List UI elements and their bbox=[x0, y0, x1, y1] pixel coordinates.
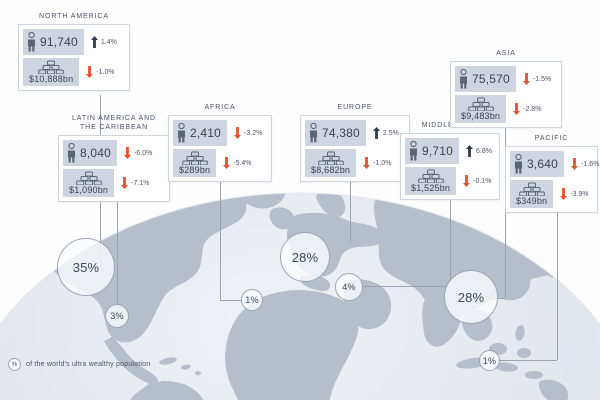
wealth-row-asia: $9,483bn -2.8% bbox=[455, 95, 557, 123]
person-icon bbox=[308, 123, 319, 143]
card-body-latin-america: 8,040 -6.0% bbox=[58, 135, 170, 202]
wealth-row-middle-east: $1,525bn -0.1% bbox=[405, 167, 495, 195]
share-bubble-north-america: 35% bbox=[57, 238, 115, 296]
population-value-africa: 2,410 bbox=[190, 126, 221, 140]
wealth-delta-africa: -5.4% bbox=[216, 149, 267, 177]
wealth-chip-middle-east: $1,525bn bbox=[405, 167, 456, 195]
arrow-down-icon bbox=[121, 177, 128, 189]
wealth-value-africa: $289bn bbox=[179, 165, 210, 175]
population-delta-text-middle-east: 6.8% bbox=[476, 148, 492, 155]
gold-bars-icon bbox=[418, 169, 444, 183]
region-title-europe: EUROPE bbox=[300, 103, 410, 112]
population-chip-asia: 75,570 bbox=[455, 66, 516, 92]
population-delta-asia: -1.5% bbox=[516, 66, 557, 92]
population-chip-pacific: 3,640 bbox=[510, 151, 564, 177]
share-value-pacific: 1% bbox=[483, 356, 496, 366]
wealth-chip-north-america: $10,888bn bbox=[23, 58, 79, 86]
arrow-up-icon bbox=[91, 36, 98, 48]
share-value-europe: 28% bbox=[292, 250, 319, 265]
share-value-africa: 1% bbox=[245, 295, 258, 305]
share-value-north-america: 35% bbox=[73, 260, 100, 275]
population-delta-text-europe: 2.5% bbox=[383, 130, 399, 137]
legend-bubble-icon: % bbox=[8, 358, 21, 371]
population-delta-africa: -3.2% bbox=[227, 120, 267, 146]
region-card-pacific[interactable]: PACIFIC 3,640 -1.6% bbox=[505, 134, 598, 213]
population-row-latin-america: 8,040 -6.0% bbox=[63, 140, 165, 166]
arrow-down-icon bbox=[571, 158, 578, 170]
population-value-middle-east: 9,710 bbox=[422, 144, 453, 158]
region-card-middle-east[interactable]: MIDDLE EAST 9,710 6.8% bbox=[400, 121, 500, 200]
population-delta-pacific: -1.6% bbox=[564, 151, 599, 177]
wealth-delta-text-north-america: -1.0% bbox=[96, 69, 114, 76]
arrow-up-icon bbox=[466, 145, 473, 157]
share-value-latin-america: 3% bbox=[110, 311, 123, 321]
population-delta-text-north-america: 1.4% bbox=[101, 39, 117, 46]
connector-africa-vertical bbox=[220, 180, 221, 300]
wealth-row-africa: $289bn -5.4% bbox=[173, 149, 267, 177]
population-delta-text-latin-america: -6.0% bbox=[134, 150, 152, 157]
region-card-latin-america[interactable]: LATIN AMERICA AND THE CARIBBEAN 8,040 -6… bbox=[58, 114, 170, 202]
card-body-north-america: 91,740 1.4% bbox=[18, 24, 130, 91]
population-value-europe: 74,380 bbox=[322, 126, 360, 140]
wealth-delta-latin-america: -7.1% bbox=[114, 169, 165, 197]
arrow-down-icon bbox=[124, 147, 131, 159]
population-row-asia: 75,570 -1.5% bbox=[455, 66, 557, 92]
legend-bubble-symbol: % bbox=[12, 362, 17, 368]
wealth-value-north-america: $10,888bn bbox=[29, 74, 73, 84]
population-row-north-america: 91,740 1.4% bbox=[23, 29, 125, 55]
region-title-latin-america: LATIN AMERICA AND THE CARIBBEAN bbox=[58, 114, 170, 132]
arrow-down-icon bbox=[86, 66, 93, 78]
wealth-delta-text-latin-america: -7.1% bbox=[131, 180, 149, 187]
infographic-root: 35% 3% 1% 28% 4% 28% 1% NORTH AMERICA bbox=[0, 0, 600, 400]
arrow-down-icon bbox=[560, 188, 567, 200]
population-chip-latin-america: 8,040 bbox=[63, 140, 117, 166]
population-delta-north-america: 1.4% bbox=[84, 29, 125, 55]
population-delta-text-africa: -3.2% bbox=[244, 130, 262, 137]
connector-middle-east-vertical bbox=[450, 196, 451, 286]
population-value-pacific: 3,640 bbox=[527, 157, 558, 171]
legend-text: of the world's ultra wealthy population bbox=[26, 361, 150, 368]
card-body-europe: 74,380 2.5% bbox=[300, 115, 410, 182]
population-value-latin-america: 8,040 bbox=[80, 146, 111, 160]
region-title-asia: ASIA bbox=[450, 49, 562, 58]
wealth-chip-asia: $9,483bn bbox=[455, 95, 506, 123]
population-delta-middle-east: 6.8% bbox=[459, 138, 495, 164]
share-value-asia: 28% bbox=[458, 290, 485, 305]
population-chip-europe: 74,380 bbox=[305, 120, 366, 146]
card-body-africa: 2,410 -3.2% bbox=[168, 115, 272, 182]
population-row-middle-east: 9,710 6.8% bbox=[405, 138, 495, 164]
wealth-row-pacific: $349bn -3.9% bbox=[510, 180, 593, 208]
card-body-pacific: 3,640 -1.6% bbox=[505, 146, 598, 213]
person-icon bbox=[458, 69, 469, 89]
gold-bars-icon bbox=[468, 97, 494, 111]
wealth-row-latin-america: $1,090bn -7.1% bbox=[63, 169, 165, 197]
population-value-asia: 75,570 bbox=[472, 72, 510, 86]
arrow-down-icon bbox=[223, 157, 230, 169]
wealth-chip-africa: $289bn bbox=[173, 149, 216, 177]
person-icon bbox=[66, 143, 77, 163]
region-card-africa[interactable]: AFRICA 2,410 -3.2% bbox=[168, 103, 272, 182]
arrow-up-icon bbox=[373, 127, 380, 139]
population-delta-latin-america: -6.0% bbox=[117, 140, 165, 166]
region-title-africa: AFRICA bbox=[168, 103, 272, 112]
population-value-north-america: 91,740 bbox=[40, 35, 78, 49]
population-row-pacific: 3,640 -1.6% bbox=[510, 151, 593, 177]
share-bubble-middle-east: 4% bbox=[335, 273, 363, 301]
person-icon bbox=[176, 123, 187, 143]
wealth-delta-text-africa: -5.4% bbox=[233, 160, 251, 167]
wealth-value-middle-east: $1,525bn bbox=[411, 183, 450, 193]
wealth-delta-europe: -1.0% bbox=[356, 149, 405, 177]
population-chip-north-america: 91,740 bbox=[23, 29, 84, 55]
region-title-north-america: NORTH AMERICA bbox=[18, 12, 130, 21]
share-bubble-pacific: 1% bbox=[479, 350, 500, 371]
wealth-delta-pacific: -3.9% bbox=[553, 180, 593, 208]
share-bubble-asia: 28% bbox=[444, 270, 498, 324]
share-bubble-latin-america: 3% bbox=[105, 304, 129, 328]
population-row-africa: 2,410 -3.2% bbox=[173, 120, 267, 146]
share-value-middle-east: 4% bbox=[342, 282, 355, 292]
wealth-delta-middle-east: -0.1% bbox=[456, 167, 495, 195]
wealth-delta-asia: -2.8% bbox=[506, 95, 557, 123]
wealth-value-latin-america: $1,090bn bbox=[69, 185, 108, 195]
wealth-delta-text-asia: -2.8% bbox=[523, 106, 541, 113]
arrow-down-icon bbox=[513, 103, 520, 115]
connector-middle-east-horizontal bbox=[363, 286, 450, 287]
gold-bars-icon bbox=[38, 60, 64, 74]
connector-europe bbox=[350, 180, 351, 242]
population-delta-text-pacific: -1.6% bbox=[581, 161, 599, 168]
card-body-asia: 75,570 -1.5% bbox=[450, 61, 562, 128]
wealth-value-asia: $9,483bn bbox=[461, 111, 500, 121]
wealth-delta-text-europe: -1.0% bbox=[373, 160, 391, 167]
person-icon bbox=[408, 141, 419, 161]
connector-pacific-vertical bbox=[557, 208, 558, 360]
share-bubble-europe: 28% bbox=[280, 232, 330, 282]
arrow-down-icon bbox=[523, 73, 530, 85]
population-delta-text-asia: -1.5% bbox=[533, 76, 551, 83]
connector-pacific-horizontal bbox=[497, 360, 557, 361]
wealth-chip-latin-america: $1,090bn bbox=[63, 169, 114, 197]
connector-latin-america bbox=[117, 188, 118, 314]
wealth-delta-text-middle-east: -0.1% bbox=[473, 178, 491, 185]
gold-bars-icon bbox=[318, 151, 344, 165]
arrow-down-icon bbox=[463, 175, 470, 187]
region-card-asia[interactable]: ASIA 75,570 -1.5% bbox=[450, 49, 562, 128]
share-bubble-africa: 1% bbox=[241, 289, 263, 311]
wealth-value-pacific: $349bn bbox=[516, 196, 547, 206]
arrow-down-icon bbox=[234, 127, 241, 139]
region-title-pacific: PACIFIC bbox=[505, 134, 598, 143]
gold-bars-icon bbox=[182, 151, 208, 165]
region-card-europe[interactable]: EUROPE 74,380 2.5% bbox=[300, 103, 410, 182]
region-card-north-america[interactable]: NORTH AMERICA 91,740 1.4% bbox=[18, 12, 130, 91]
gold-bars-icon bbox=[76, 171, 102, 185]
person-icon bbox=[513, 154, 524, 174]
legend: % of the world's ultra wealthy populatio… bbox=[8, 358, 150, 371]
wealth-row-north-america: $10,888bn -1.0% bbox=[23, 58, 125, 86]
population-chip-middle-east: 9,710 bbox=[405, 138, 459, 164]
person-icon bbox=[26, 32, 37, 52]
wealth-delta-text-pacific: -3.9% bbox=[570, 191, 588, 198]
card-body-middle-east: 9,710 6.8% bbox=[400, 133, 500, 200]
arrow-down-icon bbox=[363, 157, 370, 169]
wealth-value-europe: $8,682bn bbox=[311, 165, 350, 175]
population-chip-africa: 2,410 bbox=[173, 120, 227, 146]
population-row-europe: 74,380 2.5% bbox=[305, 120, 405, 146]
wealth-row-europe: $8,682bn -1.0% bbox=[305, 149, 405, 177]
wealth-chip-europe: $8,682bn bbox=[305, 149, 356, 177]
wealth-chip-pacific: $349bn bbox=[510, 180, 553, 208]
wealth-delta-north-america: -1.0% bbox=[79, 58, 125, 86]
gold-bars-icon bbox=[519, 182, 545, 196]
